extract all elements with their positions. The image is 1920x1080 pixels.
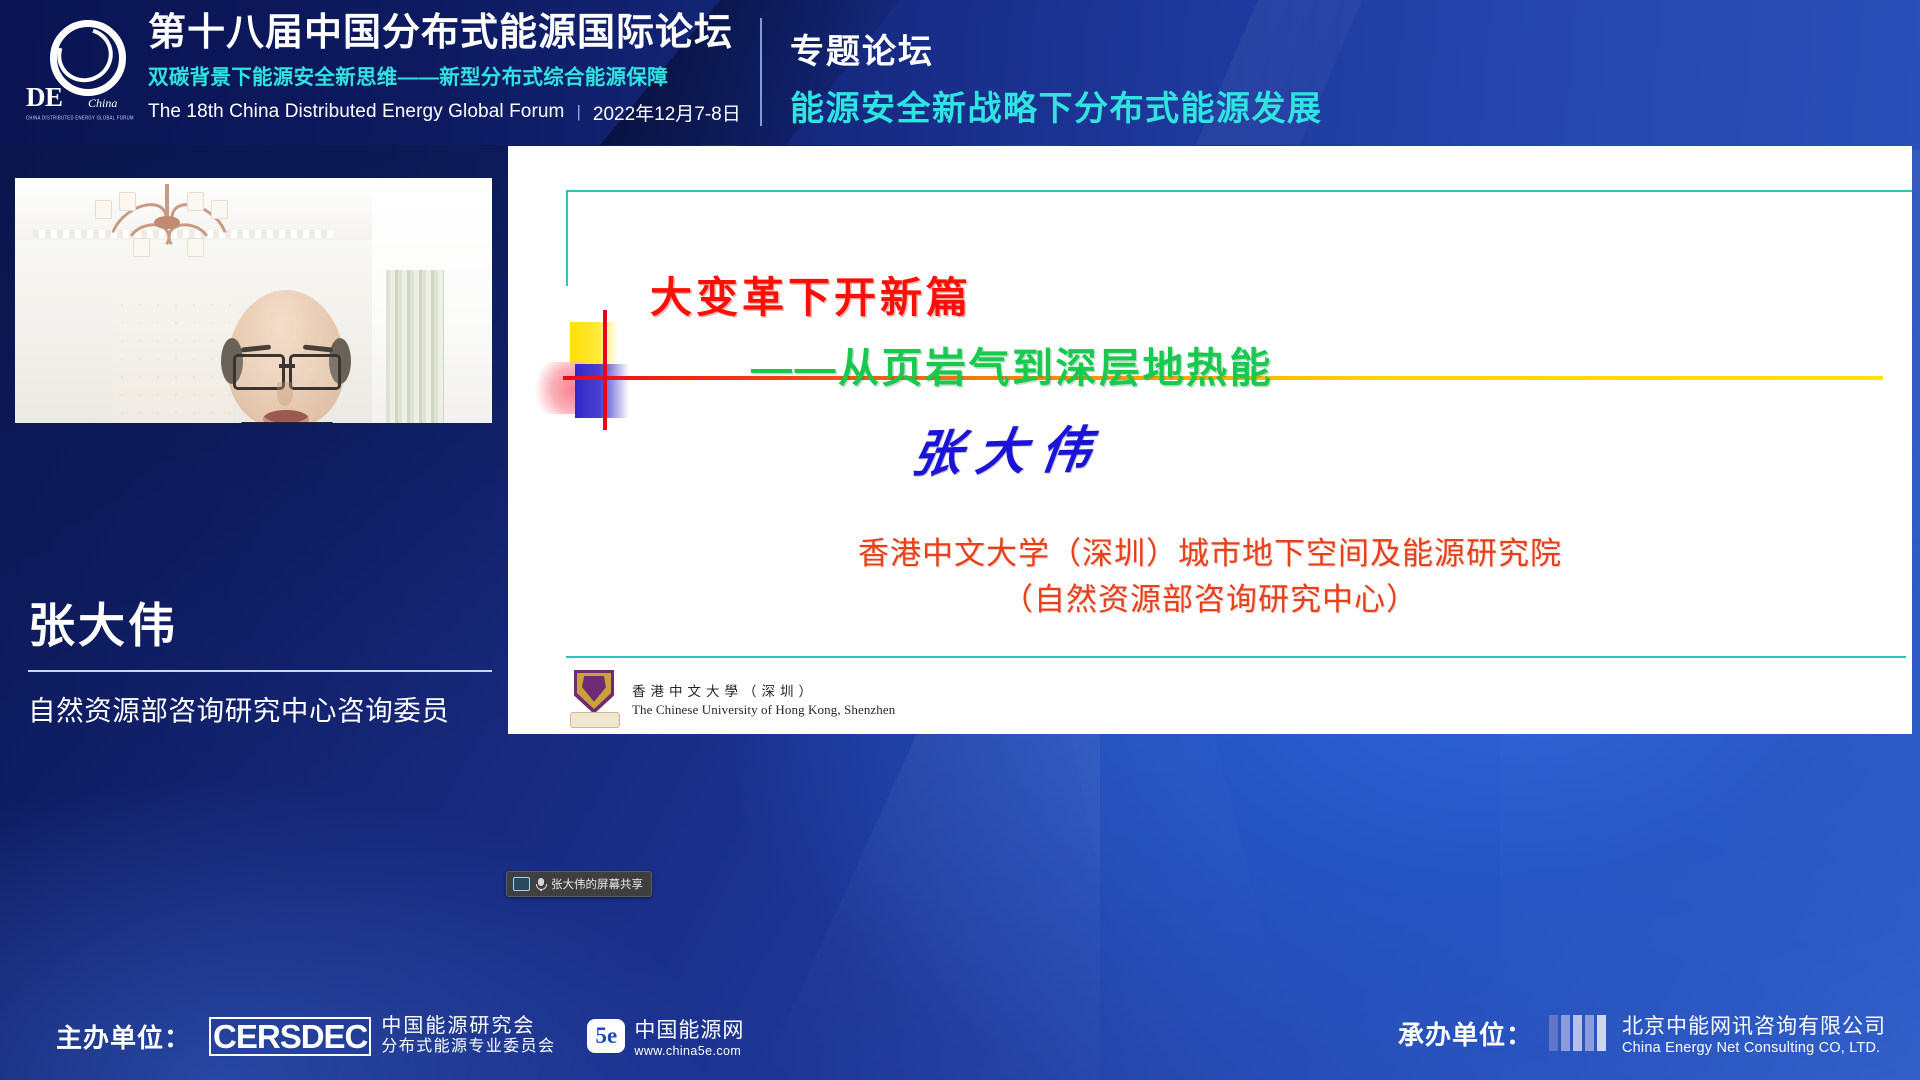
chandelier-shade	[187, 238, 204, 257]
microphone-icon[interactable]	[536, 878, 545, 891]
header-divider	[760, 18, 762, 126]
glasses-bridge	[279, 364, 295, 368]
forum-subtitle-cn: 双碳背景下能源安全新思维——新型分布式综合能源保障	[148, 60, 748, 90]
speaker-info: 张大伟 自然资源部咨询研究中心咨询委员	[28, 600, 496, 728]
author-signature: 张大伟	[908, 409, 1110, 486]
broadcast-screen: DE China CHINA DISTRIBUTED ENERGY GLOBAL…	[0, 0, 1920, 1080]
speaker-nose	[277, 382, 293, 406]
slide-organization-line2: （自然资源部咨询研究中心）	[508, 574, 1912, 619]
forum-date: 2022年12月7-8日	[593, 99, 741, 126]
header-separator: |	[576, 102, 580, 122]
forum-header: DE China CHINA DISTRIBUTED ENERGY GLOBAL…	[0, 0, 1920, 145]
logo-china-text: China	[88, 96, 117, 111]
bars-icon	[1549, 1015, 1606, 1051]
sponsor-footer: 主办单位： CERSDEC 中国能源研究会 分布式能源专业委员会 5e 中国能源…	[0, 970, 1920, 1080]
session-block: 专题论坛 能源安全新战略下分布式能源发展	[790, 24, 1323, 130]
speaker-title: 自然资源部咨询研究中心咨询委员	[28, 688, 496, 728]
organizer-label: 承办单位：	[1398, 1015, 1533, 1052]
session-topic: 能源安全新战略下分布式能源发展	[790, 81, 1323, 130]
china5e-badge: 5e	[587, 1019, 625, 1053]
blue-square-shape	[575, 364, 629, 418]
host-label: 主办单位：	[56, 1018, 191, 1055]
logo-tagline: CHINA DISTRIBUTED ENERGY GLOBAL FORUM	[26, 115, 132, 121]
university-name-en: The Chinese University of Hong Kong, She…	[632, 702, 895, 718]
glasses-lens	[289, 354, 341, 390]
host-name-line1: 中国能源研究会	[381, 1015, 555, 1039]
university-name-cn: 香港中文大學（深圳）	[632, 680, 895, 700]
cuhk-crest-icon	[570, 670, 618, 728]
screen-share-label: 张大伟的屏幕共享	[551, 876, 643, 892]
chandelier-shade	[211, 200, 228, 219]
screen-share-indicator[interactable]: 张大伟的屏幕共享	[506, 871, 652, 897]
slide-bottom-rule	[566, 656, 1906, 658]
slide-left-rule	[566, 190, 568, 286]
shared-slide[interactable]: 大变革下开新篇 ——从页岩气到深层地热能 张大伟 香港中文大学（深圳）城市地下空…	[508, 146, 1912, 734]
session-label: 专题论坛	[790, 24, 1323, 73]
partner-name: 中国能源网	[634, 1014, 744, 1044]
china5e-logo: 5e 中国能源网 www.china5e.com	[587, 1014, 744, 1058]
speaker-divider	[28, 670, 492, 672]
organizer-name-en: China Energy Net Consulting CO, LTD.	[1622, 1040, 1886, 1056]
speaker-mouth	[263, 410, 309, 423]
forum-title-en: The 18th China Distributed Energy Global…	[148, 101, 564, 123]
slide-top-rule	[566, 190, 1912, 192]
chandelier-shade	[119, 192, 136, 211]
slide-decoration	[533, 322, 663, 428]
organizer-name-cn: 北京中能网讯咨询有限公司	[1622, 1010, 1886, 1040]
chandelier-hub	[154, 216, 180, 229]
host-block: 主办单位： CERSDEC 中国能源研究会 分布式能源专业委员会 5e 中国能源…	[56, 1014, 744, 1058]
video-curtain	[386, 270, 444, 423]
forum-title-cn: 第十八届中国分布式能源国际论坛	[148, 14, 748, 54]
forum-title-block: 第十八届中国分布式能源国际论坛 双碳背景下能源安全新思维——新型分布式综合能源保…	[148, 14, 748, 126]
chandelier-shade	[187, 192, 204, 211]
slide-subtitle: ——从页岩气到深层地热能	[751, 334, 1273, 394]
speaker-video-feed[interactable]	[15, 178, 492, 423]
cersdec-wordmark: CERSDEC	[209, 1017, 371, 1056]
speaker-name: 张大伟	[28, 600, 496, 652]
screen-icon	[513, 877, 530, 891]
slide-organization-line1: 香港中文大学（深圳）城市地下空间及能源研究院	[508, 528, 1912, 573]
slide-title-primary: 大变革下开新篇	[650, 264, 972, 325]
partner-url: www.china5e.com	[634, 1044, 744, 1058]
chandelier-shade	[133, 238, 150, 257]
red-vertical-rule	[603, 310, 607, 430]
de-china-logo: DE China CHINA DISTRIBUTED ENERGY GLOBAL…	[26, 16, 132, 134]
glasses-icon	[233, 354, 341, 384]
crest-scroll	[570, 712, 620, 728]
host-name-line2: 分布式能源专业委员会	[381, 1038, 555, 1057]
organizer-block: 承办单位： 北京中能网讯咨询有限公司 China Energy Net Cons…	[1398, 1010, 1886, 1056]
cersdec-logo: CERSDEC 中国能源研究会 分布式能源专业委员会	[209, 1015, 555, 1057]
university-logo: 香港中文大學（深圳） The Chinese University of Hon…	[570, 670, 895, 728]
speaker-collar	[241, 422, 333, 423]
chandelier-shade	[95, 200, 112, 219]
video-wall-panel	[113, 296, 233, 423]
